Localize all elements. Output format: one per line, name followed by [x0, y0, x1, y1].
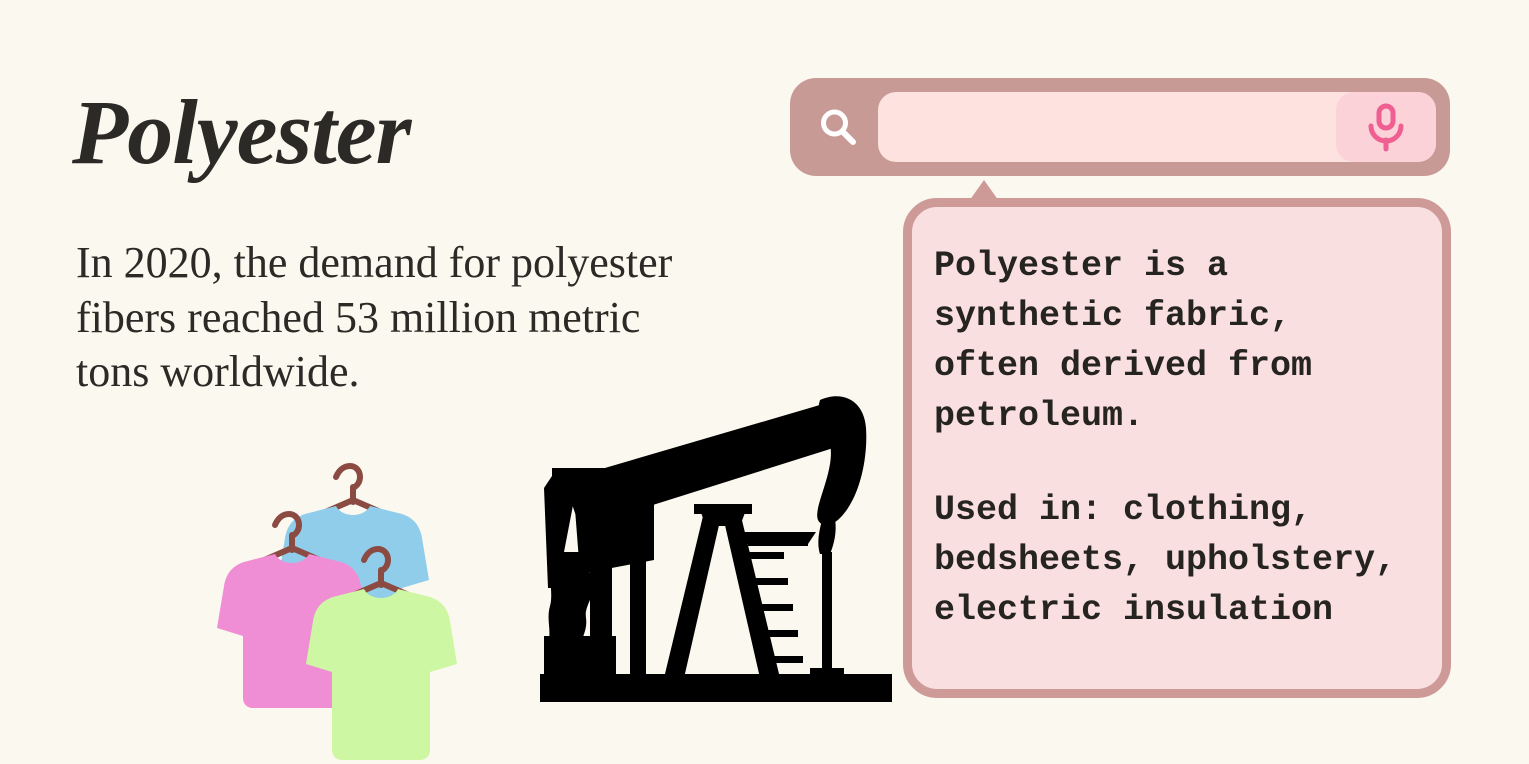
- subheading-text: In 2020, the demand for polyester fibers…: [76, 236, 696, 400]
- callout-pointer-arrow: [967, 180, 1001, 204]
- callout-paragraph-uses: Used in: clothing, bedsheets, upholstery…: [934, 485, 1416, 635]
- oil-pumpjack-illustration: [534, 392, 906, 714]
- search-field[interactable]: [878, 92, 1436, 162]
- infographic-canvas: Polyester In 2020, the demand for polyes…: [0, 0, 1529, 764]
- page-title: Polyester: [72, 86, 410, 178]
- info-callout: Polyester is a synthetic fabric, often d…: [903, 198, 1451, 698]
- tshirts-on-hangers-illustration: [196, 430, 546, 764]
- voice-search-button[interactable]: [1336, 92, 1436, 162]
- search-input[interactable]: [878, 92, 1336, 162]
- search-icon[interactable]: [816, 105, 878, 149]
- callout-paragraph-definition: Polyester is a synthetic fabric, often d…: [934, 241, 1416, 441]
- search-bar[interactable]: [790, 78, 1450, 176]
- microphone-icon: [1363, 102, 1409, 152]
